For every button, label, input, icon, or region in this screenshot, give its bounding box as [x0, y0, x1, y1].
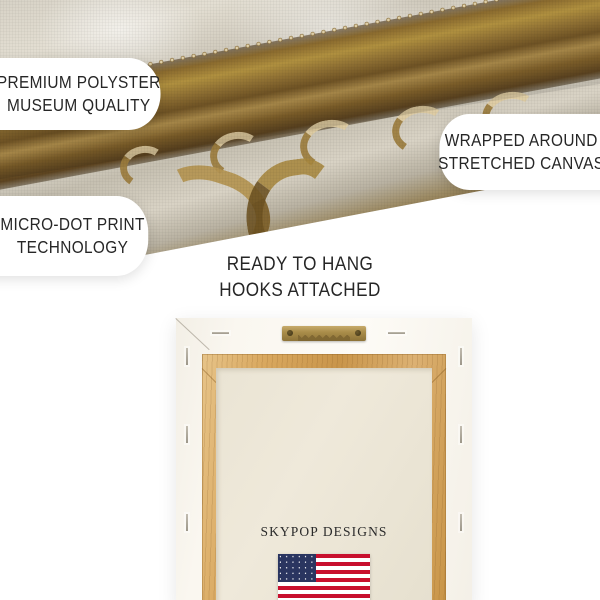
heading-line-1: READY TO HANG — [30, 252, 570, 278]
flag-stars — [278, 554, 316, 582]
staple — [186, 514, 188, 531]
staple — [186, 426, 188, 443]
sawtooth-hanger-icon — [282, 326, 366, 341]
united-states-flag-icon — [278, 554, 370, 600]
infographic-canvas: PREMIUM POLYSTER MUSEUM QUALITY WRAPPED … — [0, 0, 600, 600]
staple — [186, 348, 188, 365]
canvas-back-product: SKYPOP DESIGNS — [176, 318, 472, 600]
callout-line-1: MICRO-DOT PRINT — [0, 213, 144, 236]
staple — [388, 332, 405, 334]
ready-to-hang-heading: READY TO HANG HOOKS ATTACHED — [0, 252, 600, 304]
callout-line-1: WRAPPED AROUND — [445, 129, 598, 152]
canvas-back-panel: SKYPOP DESIGNS — [216, 368, 432, 600]
staple — [212, 332, 229, 334]
callout-line-2: MUSEUM QUALITY — [7, 94, 151, 117]
heading-line-2: HOOKS ATTACHED — [30, 278, 570, 304]
staple — [460, 348, 462, 365]
staple — [460, 426, 462, 443]
canvas-miter-fold-line — [146, 318, 210, 382]
staple — [460, 514, 462, 531]
flag-canton — [278, 554, 316, 582]
brand-name: SKYPOP DESIGNS — [216, 524, 432, 540]
callout-wrapped-around: WRAPPED AROUND STRETCHED CANVAS — [439, 114, 600, 190]
callout-line-1: PREMIUM POLYSTER — [0, 71, 161, 94]
callout-premium-polyster: PREMIUM POLYSTER MUSEUM QUALITY — [0, 58, 161, 130]
sawtooth-teeth — [298, 335, 350, 341]
callout-line-2: STRETCHED CANVAS — [438, 152, 600, 175]
wooden-stretcher-bar-frame: SKYPOP DESIGNS — [202, 354, 446, 600]
